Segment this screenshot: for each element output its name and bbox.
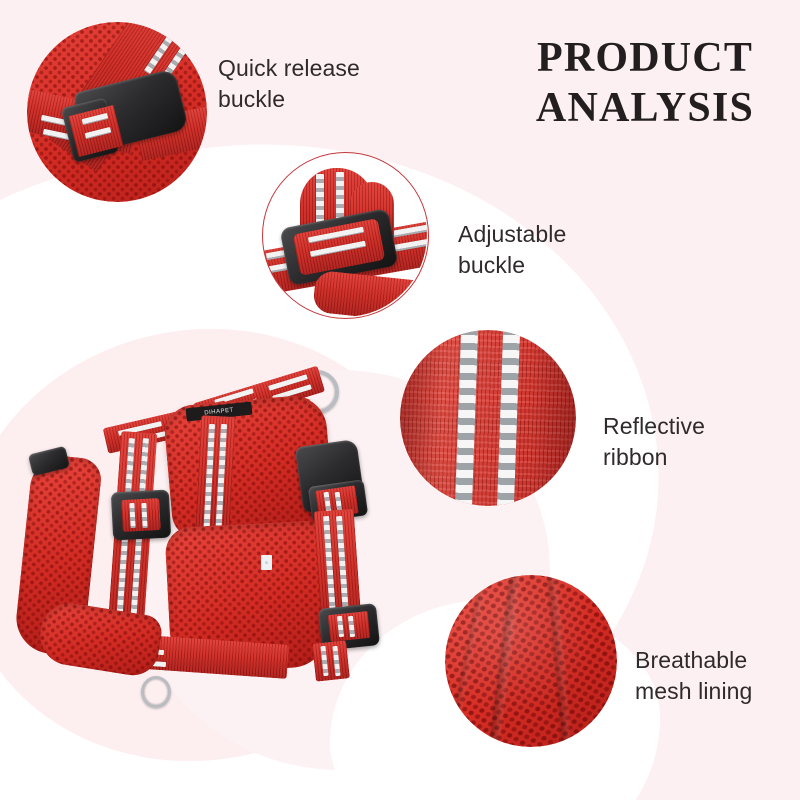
title-line-2: ANALYSIS xyxy=(500,84,790,134)
reflective-ribbon-photo xyxy=(400,330,576,506)
feature-label-reflective-ribbon: Reflective ribbon xyxy=(603,411,705,473)
main-product-photo: DIHAPET S xyxy=(18,358,410,728)
adjustable-buckle-label-line-2: buckle xyxy=(458,250,566,281)
title-line-1: PRODUCT xyxy=(537,35,753,81)
reflective-ribbon-label-line-1: Reflective xyxy=(603,411,705,442)
breathable-mesh-photo xyxy=(445,575,617,747)
breathable-mesh-label-line-2: mesh lining xyxy=(635,676,752,707)
leash-d-ring xyxy=(141,676,171,708)
breathable-mesh-label-line-1: Breathable xyxy=(635,645,752,676)
size-tag: S xyxy=(261,555,272,570)
feature-image-quick-release-buckle xyxy=(27,22,207,202)
product-analysis-infographic: PRODUCT ANALYSIS xyxy=(0,0,800,800)
size-tag-text: S xyxy=(265,560,268,565)
quick-release-buckle-label-line-1: Quick release xyxy=(218,53,360,84)
adjustable-buckle-photo xyxy=(262,152,427,317)
feature-label-quick-release-buckle: Quick release buckle xyxy=(218,53,360,115)
feature-image-adjustable-buckle xyxy=(262,152,427,317)
quick-release-buckle-label-line-2: buckle xyxy=(218,84,360,115)
feature-label-breathable-mesh: Breathable mesh lining xyxy=(635,645,752,707)
adjustable-buckle-label-line-1: Adjustable xyxy=(458,219,566,250)
page-title: PRODUCT ANALYSIS xyxy=(500,34,790,133)
feature-image-breathable-mesh xyxy=(445,575,617,747)
reflective-ribbon-label-line-2: ribbon xyxy=(603,442,705,473)
feature-image-reflective-ribbon xyxy=(400,330,576,506)
quick-release-buckle-photo xyxy=(27,22,207,202)
feature-label-adjustable-buckle: Adjustable buckle xyxy=(458,219,566,281)
